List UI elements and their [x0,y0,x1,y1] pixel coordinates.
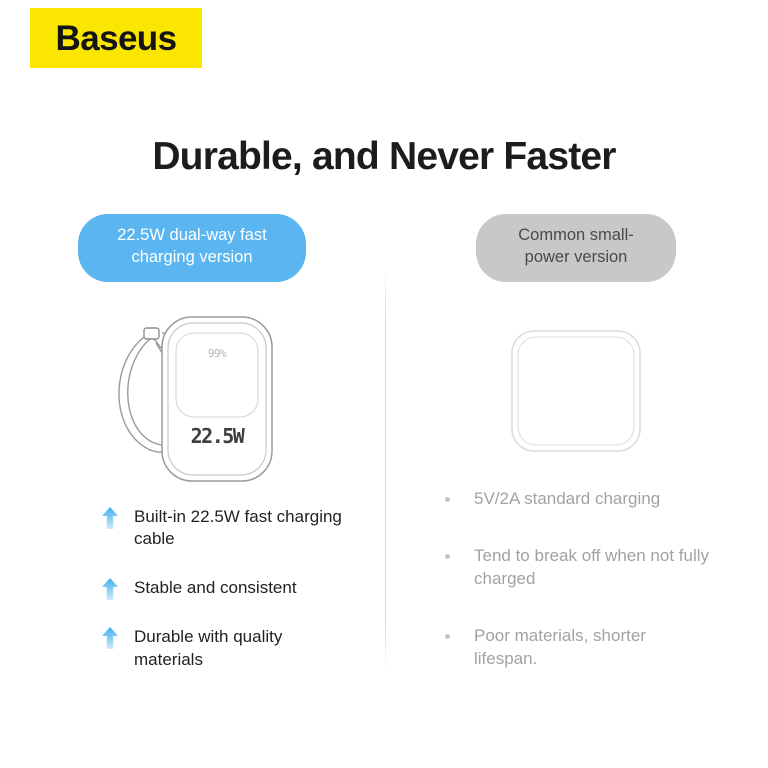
feature-text: Tend to break off when not fully charged [474,545,709,591]
power-output-display: 22.5W [190,424,245,448]
column-right: Common small-power version 5V/2A standar… [384,205,768,705]
feature-item: Tend to break off when not fully charged [442,545,750,591]
page-title: Durable, and Never Faster [0,136,768,179]
infographic-page: { "brand": { "name": "Baseus", "badge_co… [0,0,768,768]
feature-item: Durable with quality materials [102,626,366,672]
badge-left: 22.5W dual-way fast charging version [78,214,306,282]
feature-item: Built-in 22.5W fast charging cable [102,506,366,552]
dot-bullet-icon [445,634,450,639]
battery-percent-display: 99% [207,347,226,360]
column-left: 22.5W dual-way fast charging version 99% [0,205,384,705]
brand-logo: Baseus [30,8,202,68]
feature-text: 5V/2A standard charging [474,488,660,511]
feature-list-right: 5V/2A standard charging Tend to break of… [384,488,768,705]
plain-power-bank-illustration [506,325,646,465]
feature-text: Stable and consistent [134,577,297,600]
feature-item: Poor materials, shorter lifespan. [442,625,750,671]
dot-bullet-icon [445,554,450,559]
arrow-up-icon [102,578,118,600]
feature-item: 5V/2A standard charging [442,488,750,511]
feature-text: Poor materials, shorter lifespan. [474,625,709,671]
power-bank-illustration: 99% 22.5W [100,309,285,489]
brand-logo-text: Baseus [56,21,177,56]
feature-text: Durable with quality materials [134,626,349,672]
comparison-section: 22.5W dual-way fast charging version 99% [0,205,768,705]
feature-item: Stable and consistent [102,577,366,600]
feature-text: Built-in 22.5W fast charging cable [134,506,349,552]
product-image-left: 99% 22.5W [100,304,285,494]
dot-bullet-icon [445,497,450,502]
product-image-right [506,316,646,475]
feature-list-left: Built-in 22.5W fast charging cable Stabl… [0,506,384,699]
badge-right: Common small-power version [476,214,676,282]
arrow-up-icon [102,627,118,649]
arrow-up-icon [102,507,118,529]
